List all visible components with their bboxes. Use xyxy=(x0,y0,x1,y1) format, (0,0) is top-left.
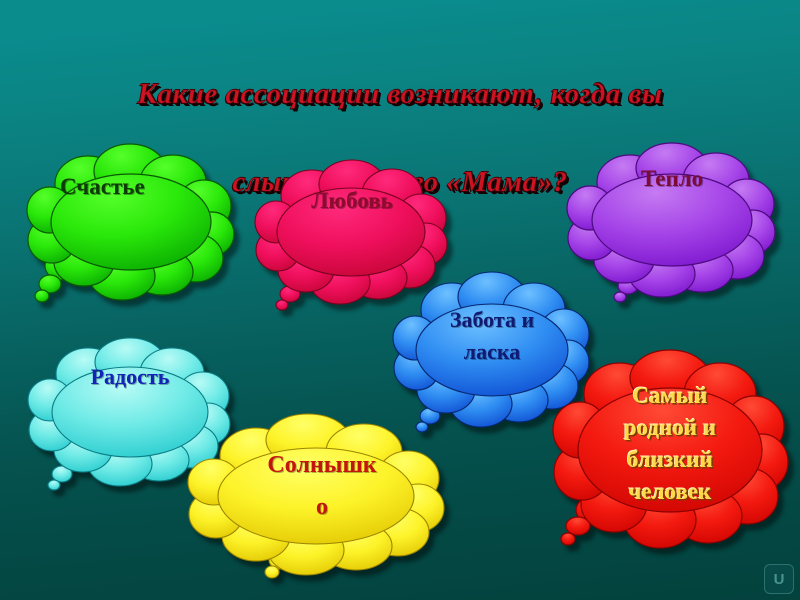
presentation-slide: Какие ассоциации возникают, когда вы слы… xyxy=(0,0,800,600)
site-watermark-icon: U xyxy=(764,564,794,594)
cloud-shape-happiness xyxy=(26,144,236,314)
thought-cloud-dearest-person[interactable]: Самый родной и близкий человек xyxy=(548,350,792,556)
page-title-line-1: Какие ассоциации возникают, когда вы xyxy=(0,72,800,116)
thought-cloud-warmth[interactable]: Тепло xyxy=(566,144,778,312)
cloud-shape-sun xyxy=(186,416,448,584)
cloud-shape-warmth xyxy=(566,144,778,312)
thought-cloud-sun[interactable]: Солнышк о xyxy=(186,416,448,584)
cloud-shape-dearest xyxy=(548,350,792,556)
thought-cloud-happiness[interactable]: Счастье xyxy=(26,144,236,314)
